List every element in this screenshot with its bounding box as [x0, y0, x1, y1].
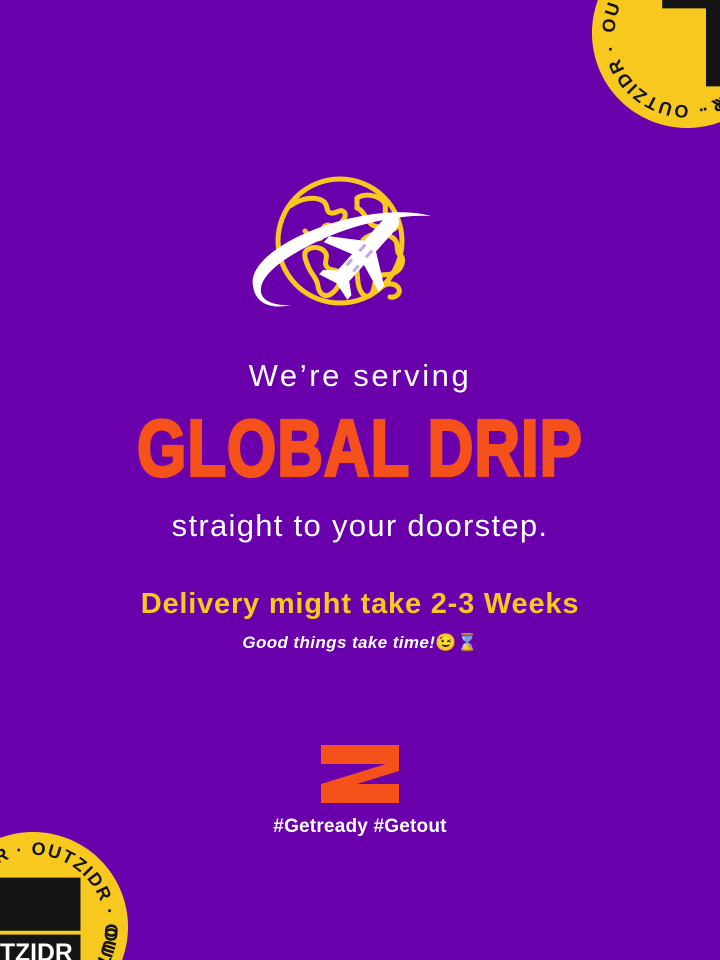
badge-inner-wordmark: OUTZIDR — [0, 940, 73, 960]
reassurance-text: Good things take time! — [242, 633, 435, 652]
outzidr-badge-bottom-left: OUTZIDR · OUTZIDR · OUTZIDR · OUTZIDR · … — [0, 832, 128, 960]
page-title: GLOBAL DRIP — [0, 410, 720, 489]
headline-block: We’re serving GLOBAL DRIP straight to yo… — [0, 360, 720, 651]
reassurance-emoji: 😉⌛ — [435, 633, 477, 652]
delivery-notice: Delivery might take 2-3 Weeks — [0, 589, 720, 619]
hashtags-text: #Getready #Getout — [0, 816, 720, 838]
footer-block: #Getready #Getout — [0, 745, 720, 838]
poster-canvas: OUTZIDR · OUTZIDR · OUTZIDR · OUTZIDR · … — [0, 0, 720, 960]
globe-airplane-illustration — [0, 168, 720, 328]
brand-z-logo — [321, 745, 399, 803]
eyebrow-text: We’re serving — [0, 360, 720, 393]
delivery-reassurance: Good things take time!😉⌛ — [0, 634, 720, 652]
subtitle-text: straight to your doorstep. — [0, 510, 720, 543]
outzidr-badge-top-right: OUTZIDR · OUTZIDR · OUTZIDR · OUTZIDR · … — [592, 0, 720, 128]
